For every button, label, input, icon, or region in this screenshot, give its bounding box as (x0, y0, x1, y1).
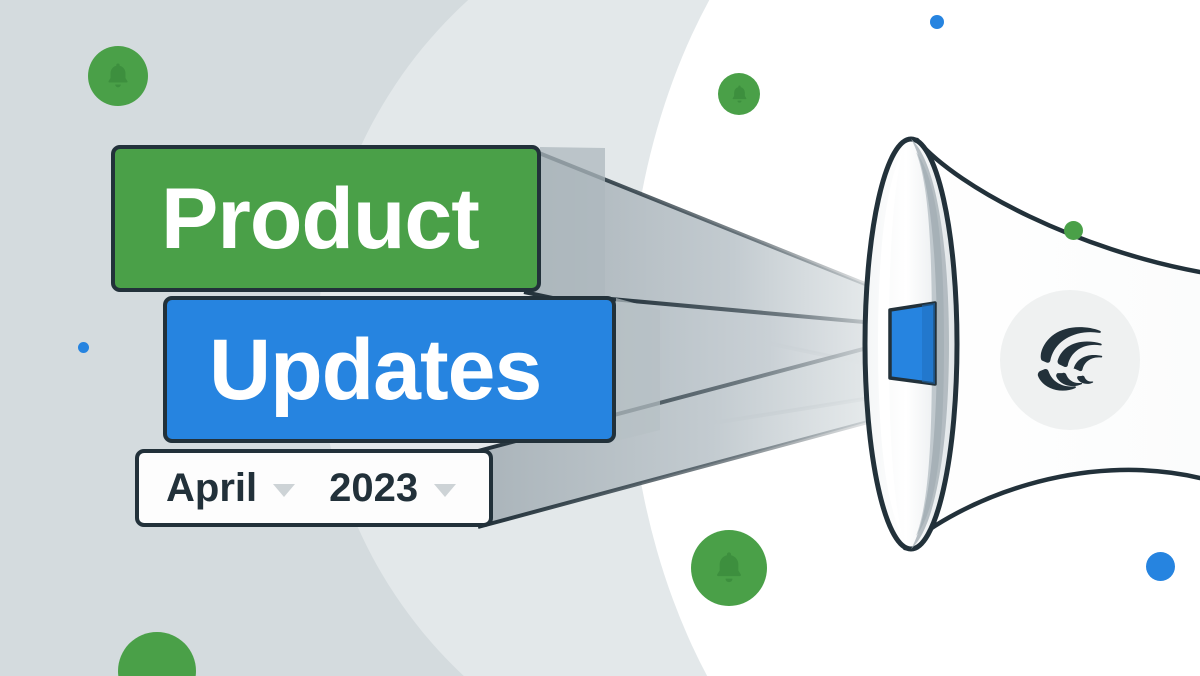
product-updates-banner: Product Updates April 2023 (0, 0, 1200, 676)
chevron-down-icon[interactable] (434, 484, 456, 497)
title-line-product: Product (161, 176, 479, 262)
month-dropdown[interactable]: April (166, 468, 295, 508)
bell-icon (102, 60, 134, 92)
jamf-swoosh-logo-icon (1024, 312, 1116, 409)
bell-badge-top-left (88, 46, 148, 106)
bell-icon (709, 548, 749, 588)
title-chip-updates: Updates (163, 296, 616, 443)
green-circle-bottom-left (118, 632, 196, 676)
year-value: 2023 (329, 468, 418, 508)
title-line-updates: Updates (209, 327, 541, 413)
title-chip-product: Product (111, 145, 541, 292)
bell-badge-top-middle (718, 73, 760, 115)
blue-dot-bottom-right (1146, 552, 1175, 581)
date-selector-chip[interactable]: April 2023 (135, 449, 493, 527)
blue-dot-left (78, 342, 89, 353)
chevron-down-icon[interactable] (273, 484, 295, 497)
month-value: April (166, 468, 257, 508)
bell-icon (728, 83, 751, 106)
green-dot-on-outline (1064, 221, 1083, 240)
bell-badge-bottom (691, 530, 767, 606)
brand-logo-badge (1000, 290, 1140, 430)
blue-dot-top (930, 15, 944, 29)
year-dropdown[interactable]: 2023 (329, 468, 456, 508)
